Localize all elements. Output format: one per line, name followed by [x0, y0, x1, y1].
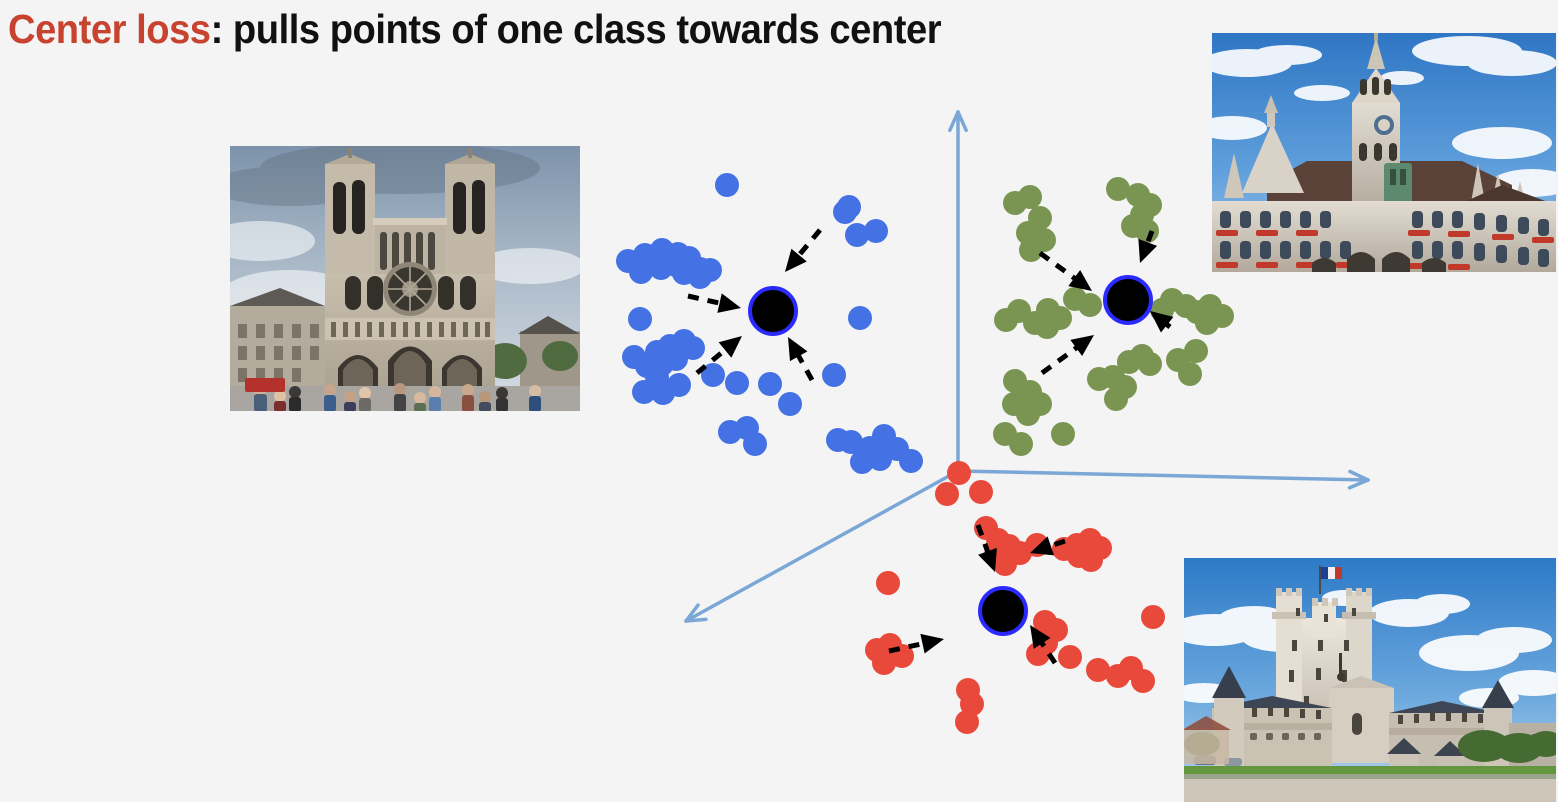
- pull-arrow: [785, 230, 820, 272]
- scatter-point: [664, 347, 688, 371]
- scatter-point: [743, 432, 767, 456]
- scatter-point: [672, 261, 696, 285]
- axis-horizontal: [958, 471, 1368, 488]
- scatter-point: [1166, 348, 1190, 372]
- scatter-point: [848, 306, 872, 330]
- scatter-point: [1138, 352, 1162, 376]
- scatter-point: [935, 482, 959, 506]
- pull-arrow: [1040, 253, 1092, 291]
- axis-diagonal: [686, 471, 958, 621]
- scatter-point: [725, 371, 749, 395]
- scatter-point: [947, 461, 971, 485]
- scatter-point: [969, 480, 993, 504]
- scatter-point: [1078, 293, 1102, 317]
- scatter-point: [955, 710, 979, 734]
- scatter-point: [837, 195, 861, 219]
- scatter-point: [1058, 645, 1082, 669]
- scatter-point: [822, 363, 846, 387]
- scatter-point: [1195, 311, 1219, 335]
- scatter-point: [1018, 185, 1042, 209]
- scatter-point: [778, 392, 802, 416]
- scatter-point: [1009, 432, 1033, 456]
- scatter-point: [643, 249, 667, 273]
- scatter-point: [622, 345, 646, 369]
- scatter-point: [1019, 238, 1043, 262]
- class-center-class-red: [980, 588, 1026, 634]
- class-center-class-blue: [750, 288, 796, 334]
- scatter-point: [632, 380, 656, 404]
- scatter-point: [1051, 422, 1075, 446]
- scatter-point: [1141, 605, 1165, 629]
- pull-arrow: [788, 337, 812, 380]
- scatter-point: [1131, 669, 1155, 693]
- pull-arrow: [1042, 335, 1094, 373]
- scatter-point: [1002, 392, 1026, 416]
- class-center-class-green: [1105, 277, 1151, 323]
- axis-vertical: [950, 112, 966, 471]
- scatter-point: [864, 219, 888, 243]
- scatter-point: [876, 571, 900, 595]
- class-centers: [750, 277, 1151, 634]
- scatter-point: [628, 307, 652, 331]
- center-loss-scatter-plot: [0, 0, 1558, 802]
- slide-canvas: Center loss: pulls points of one class t…: [0, 0, 1558, 802]
- scatter-point: [667, 373, 691, 397]
- scatter-point: [715, 173, 739, 197]
- scatter-point: [868, 447, 892, 471]
- scatter-point: [1104, 387, 1128, 411]
- scatter-point: [1036, 298, 1060, 322]
- pull-arrow: [688, 293, 741, 313]
- scatter-point: [758, 372, 782, 396]
- scatter-point: [899, 449, 923, 473]
- scatter-point: [872, 651, 896, 675]
